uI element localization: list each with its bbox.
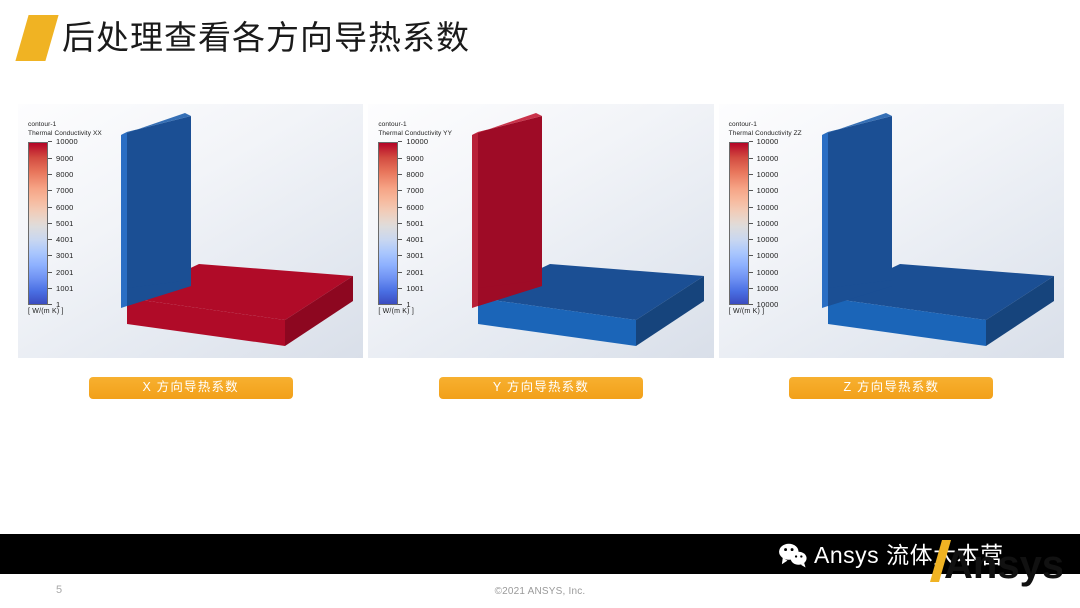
- colorbar-gradient: [729, 142, 749, 305]
- tick-mark-icon: [398, 158, 402, 159]
- tick-label: 4001: [406, 235, 424, 244]
- tick-label: 5001: [406, 219, 424, 228]
- tick-mark-icon: [48, 158, 52, 159]
- tick-mark-icon: [48, 239, 52, 240]
- tick-mark-icon: [749, 174, 753, 175]
- tick-label: 9000: [406, 154, 424, 163]
- tick-label: 10000: [757, 284, 779, 293]
- caption-cell-z: Z 方向导热系数: [719, 377, 1064, 399]
- copyright-text: ©2021 ANSYS, Inc.: [0, 586, 1080, 597]
- wall-left-face: [472, 132, 478, 308]
- tick-label: 9000: [56, 154, 74, 163]
- caption-label-x: X 方向导热系数: [89, 377, 293, 399]
- tick-label: 10000: [757, 300, 779, 309]
- tick-label: 10000: [757, 170, 779, 179]
- tick-mark-icon: [398, 255, 402, 256]
- tick-label: 10000: [757, 186, 779, 195]
- geometry-view-yy[interactable]: [464, 108, 710, 356]
- tick-mark-icon: [48, 207, 52, 208]
- page-title: 后处理查看各方向导热系数: [62, 21, 470, 54]
- wall-front-face: [127, 116, 191, 306]
- contour-panel-zz[interactable]: contour-1 Thermal Conductivity ZZ 10000 …: [719, 104, 1064, 358]
- tick-mark-icon: [398, 239, 402, 240]
- tick-label: 10000: [757, 268, 779, 277]
- tick-label: 3001: [56, 251, 74, 260]
- wall-front-face: [828, 116, 892, 306]
- tick-label: 10000: [757, 235, 779, 244]
- colorbar-gradient: [28, 142, 48, 305]
- tick-label: 1: [56, 300, 60, 309]
- tick-mark-icon: [749, 223, 753, 224]
- tick-label: 10000: [757, 137, 779, 146]
- wechat-account-badge: Ansys流体大本营: [778, 541, 1004, 569]
- tick-mark-icon: [398, 190, 402, 191]
- tick-mark-icon: [398, 207, 402, 208]
- tick-mark-icon: [398, 304, 402, 305]
- tick-mark-icon: [48, 223, 52, 224]
- tick-label: 8000: [406, 170, 424, 179]
- tick-mark-icon: [48, 304, 52, 305]
- wall-left-face: [822, 132, 828, 308]
- tick-label: 1: [406, 300, 410, 309]
- contour-panel-yy[interactable]: contour-1 Thermal Conductivity YY 10000 …: [368, 104, 713, 358]
- tick-mark-icon: [398, 223, 402, 224]
- tick-label: 8000: [56, 170, 74, 179]
- tick-mark-icon: [48, 272, 52, 273]
- tick-mark-icon: [749, 288, 753, 289]
- contour-panel-row: contour-1 Thermal Conductivity XX 10000 …: [18, 104, 1064, 358]
- tick-mark-icon: [48, 190, 52, 191]
- tick-mark-icon: [48, 288, 52, 289]
- caption-label-y: Y 方向导热系数: [439, 377, 643, 399]
- caption-row: X 方向导热系数 Y 方向导热系数 Z 方向导热系数: [18, 377, 1064, 399]
- tick-mark-icon: [749, 141, 753, 142]
- tick-label: 10000: [757, 251, 779, 260]
- tick-label: 10000: [406, 137, 428, 146]
- wechat-brand-text: Ansys: [814, 542, 879, 568]
- tick-mark-icon: [749, 207, 753, 208]
- tick-mark-icon: [749, 255, 753, 256]
- caption-cell-y: Y 方向导热系数: [368, 377, 713, 399]
- tick-label: 3001: [406, 251, 424, 260]
- tick-mark-icon: [48, 141, 52, 142]
- tick-mark-icon: [749, 272, 753, 273]
- tick-label: 10000: [757, 154, 779, 163]
- tick-label: 5001: [56, 219, 74, 228]
- tick-label: 1001: [56, 284, 74, 293]
- geometry-view-zz[interactable]: [814, 108, 1060, 356]
- tick-label: 10000: [757, 219, 779, 228]
- tick-mark-icon: [749, 158, 753, 159]
- tick-label: 2001: [56, 268, 74, 277]
- tick-mark-icon: [398, 141, 402, 142]
- wechat-account-text: 流体大本营: [886, 542, 1004, 568]
- caption-cell-x: X 方向导热系数: [18, 377, 363, 399]
- tick-label: 6000: [56, 203, 74, 212]
- geometry-view-xx[interactable]: [113, 108, 359, 356]
- tick-mark-icon: [749, 190, 753, 191]
- tick-label: 7000: [56, 186, 74, 195]
- tick-label: 4001: [56, 235, 74, 244]
- wall-left-face: [121, 132, 127, 308]
- tick-label: 10000: [56, 137, 78, 146]
- wall-front-face: [478, 116, 542, 306]
- tick-label: 6000: [406, 203, 424, 212]
- tick-mark-icon: [749, 304, 753, 305]
- contour-panel-xx[interactable]: contour-1 Thermal Conductivity XX 10000 …: [18, 104, 363, 358]
- slide-header: 后处理查看各方向导热系数: [0, 0, 1080, 75]
- caption-label-z: Z 方向导热系数: [789, 377, 993, 399]
- title-accent-slash-icon: [15, 15, 58, 61]
- wechat-label: Ansys流体大本营: [814, 544, 1004, 567]
- tick-label: 7000: [406, 186, 424, 195]
- tick-mark-icon: [398, 174, 402, 175]
- tick-mark-icon: [398, 272, 402, 273]
- tick-label: 2001: [406, 268, 424, 277]
- tick-mark-icon: [398, 288, 402, 289]
- colorbar-gradient: [378, 142, 398, 305]
- wechat-icon: [778, 542, 808, 568]
- tick-mark-icon: [749, 239, 753, 240]
- tick-mark-icon: [48, 255, 52, 256]
- tick-mark-icon: [48, 174, 52, 175]
- tick-label: 10000: [757, 203, 779, 212]
- tick-label: 1001: [406, 284, 424, 293]
